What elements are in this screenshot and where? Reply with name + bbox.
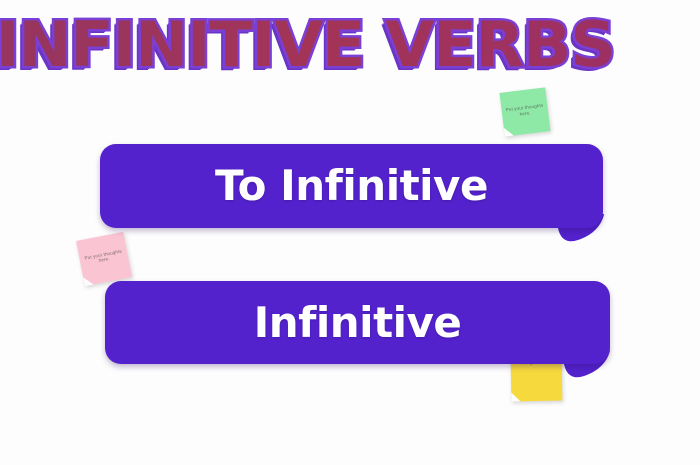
slide-canvas: INFINITIVE VERBS INFINITIVE VERBS Put yo… — [0, 0, 700, 465]
sticky-note-pink[interactable]: Put your thoughts here. — [76, 232, 132, 286]
sticky-note-green[interactable]: Put your thoughts here. — [499, 87, 550, 136]
sticky-note-yellow-fold-icon — [511, 392, 520, 401]
sticky-note-green-body: Put your thoughts here. — [499, 87, 550, 136]
sticky-note-green-fold-icon — [504, 127, 514, 137]
sticky-note-pink-fold-icon — [83, 276, 94, 287]
sticky-note-green-text: Put your thoughts here. — [501, 102, 548, 119]
speech-bubble-to-infinitive[interactable]: To Infinitive — [100, 144, 603, 228]
sticky-note-pink-text: Put your thoughts here. — [79, 247, 128, 267]
speech-bubble-infinitive[interactable]: Infinitive — [105, 281, 610, 364]
page-title-text: INFINITIVE VERBS — [0, 10, 700, 80]
speech-bubble-to-infinitive-label: To Infinitive — [215, 165, 488, 207]
page-title: INFINITIVE VERBS INFINITIVE VERBS — [0, 10, 696, 88]
sticky-note-pink-body: Put your thoughts here. — [76, 232, 132, 286]
speech-bubble-infinitive-label: Infinitive — [254, 302, 462, 344]
